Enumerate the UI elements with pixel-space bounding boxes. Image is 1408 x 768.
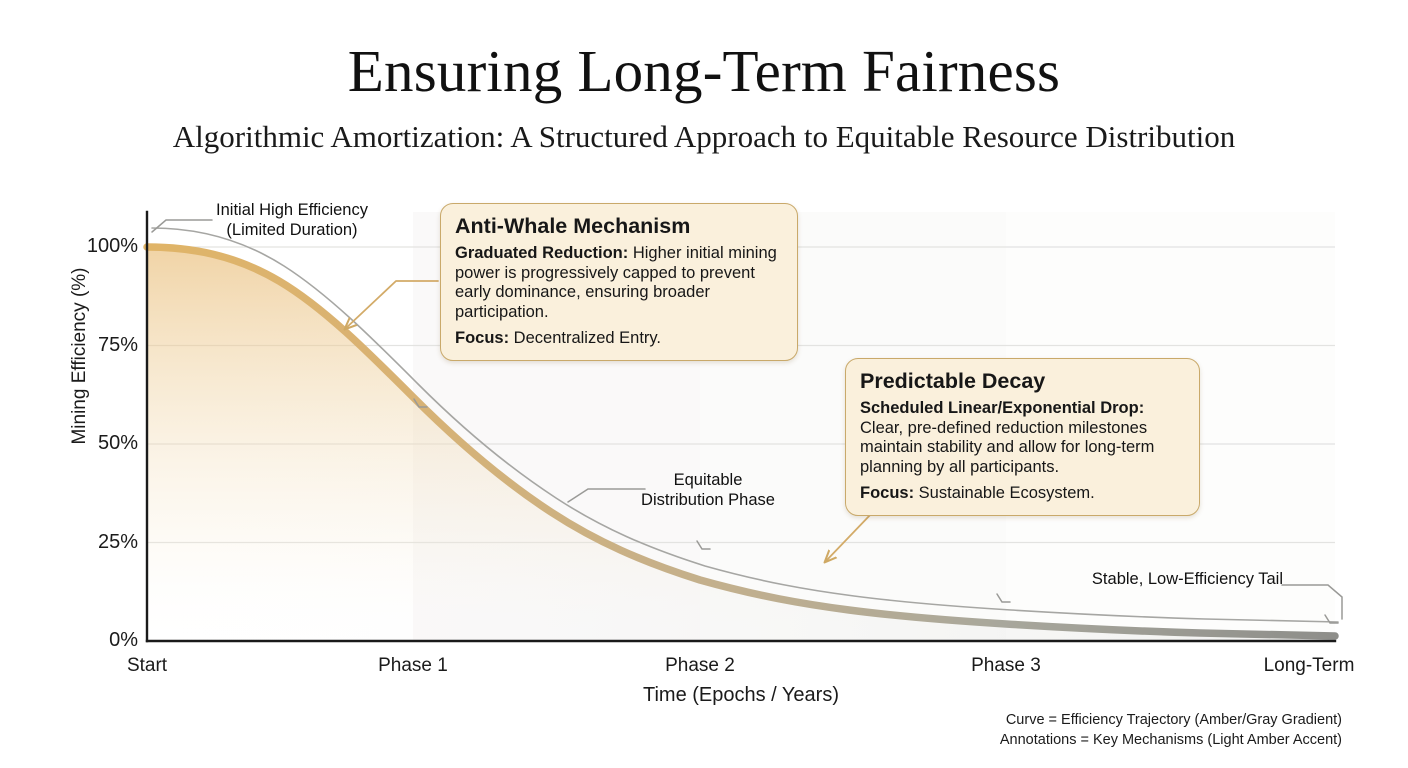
curve-label-stable-low-efficiency-tail: Stable, Low-Efficiency Tail xyxy=(1073,569,1283,589)
callout-body-lead: Graduated Reduction: xyxy=(455,244,628,262)
callout-title: Predictable Decay xyxy=(860,369,1185,394)
callout-focus-text: Sustainable Ecosystem. xyxy=(914,484,1095,502)
y-tick-0: 0% xyxy=(18,629,138,652)
callout-anti-whale-mechanism[interactable]: Anti-Whale Mechanism Graduated Reduction… xyxy=(440,203,798,361)
callout-title: Anti-Whale Mechanism xyxy=(455,214,783,239)
callout-focus: Focus: Decentralized Entry. xyxy=(455,329,783,349)
x-tick-start: Start xyxy=(47,655,247,677)
callout-focus-lead: Focus: xyxy=(860,484,914,502)
callout-focus: Focus: Sustainable Ecosystem. xyxy=(860,484,1185,504)
curve-label-equitable-distribution-phase: Equitable Distribution Phase xyxy=(636,470,780,510)
callout-focus-text: Decentralized Entry. xyxy=(509,329,661,347)
x-tick-phase-3: Phase 3 xyxy=(906,655,1106,677)
callout-body-lead: Scheduled Linear/Exponential Drop: xyxy=(860,399,1144,417)
legend-note-line-2: Annotations = Key Mechanisms (Light Ambe… xyxy=(1000,730,1342,750)
x-axis-title: Time (Epochs / Years) xyxy=(147,684,1335,707)
callout-body: Scheduled Linear/Exponential Drop: Clear… xyxy=(860,399,1185,477)
chart-page: Ensuring Long-Term Fairness Algorithmic … xyxy=(0,0,1408,768)
x-tick-phase-2: Phase 2 xyxy=(600,655,800,677)
callout-body: Graduated Reduction: Higher initial mini… xyxy=(455,244,783,322)
callout-focus-lead: Focus: xyxy=(455,329,509,347)
legend-note: Curve = Efficiency Trajectory (Amber/Gra… xyxy=(1000,710,1342,750)
curve-label-initial-high-efficiency: Initial High Efficiency (Limited Duratio… xyxy=(212,200,372,240)
x-tick-phase-1: Phase 1 xyxy=(313,655,513,677)
y-tick-25: 25% xyxy=(18,531,138,554)
x-tick-long-term: Long-Term xyxy=(1209,655,1408,677)
callout-body-text: Clear, pre-defined reduction milestones … xyxy=(860,419,1154,476)
legend-note-line-1: Curve = Efficiency Trajectory (Amber/Gra… xyxy=(1000,710,1342,730)
callout-predictable-decay[interactable]: Predictable Decay Scheduled Linear/Expon… xyxy=(845,358,1200,516)
y-axis-title: Mining Efficiency (%) xyxy=(69,216,91,496)
